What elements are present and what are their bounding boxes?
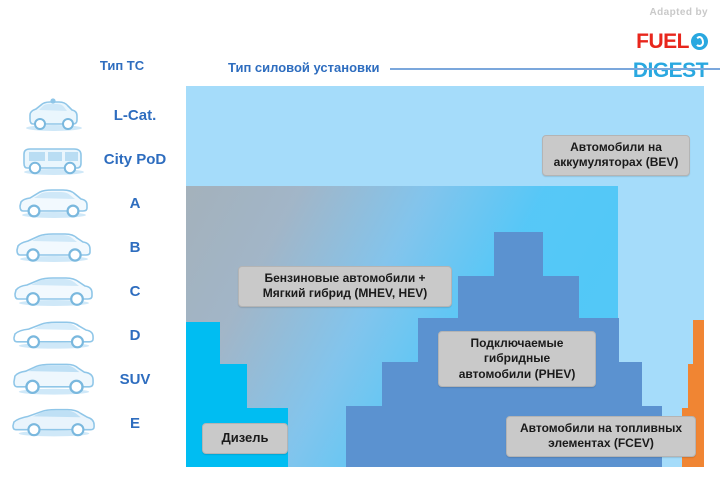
logo-fuel-text: FUEL: [636, 31, 689, 52]
vehicle-type-column: L-Cat. City PoD: [0, 93, 182, 445]
city-pod-icon: [12, 138, 96, 180]
powertrain-axis-label: Тип силовой установки: [228, 60, 380, 75]
hatchback-b-icon: [12, 226, 96, 268]
swirl-icon: [691, 33, 708, 50]
callout-mhev: Бензиновые автомобили + Мягкий гибрид (M…: [238, 266, 452, 307]
vehicle-row-lcat: L-Cat.: [0, 93, 182, 137]
vehicle-row-label: C: [96, 283, 182, 300]
logo-wordmark-row: FUEL: [633, 19, 708, 63]
suv-icon: [12, 358, 96, 400]
vehicle-row-label: L-Cat.: [96, 107, 182, 124]
vehicle-row-label: B: [96, 239, 182, 256]
vehicle-row-citypod: City PoD: [0, 137, 182, 181]
microcar-icon: [12, 94, 96, 136]
vehicle-row-label: A: [96, 195, 182, 212]
vehicle-row-label: D: [96, 327, 182, 344]
sedan-d-icon: [12, 314, 96, 356]
vehicle-row-d: D: [0, 313, 182, 357]
callout-bev: Автомобили на аккумуляторах (BEV): [542, 135, 690, 176]
vehicle-row-label: E: [96, 415, 182, 432]
vehicle-row-label: City PoD: [96, 151, 182, 168]
powertrain-coverage-chart: Автомобили на аккумуляторах (BEV) Бензин…: [186, 86, 704, 467]
vehicle-row-suv: SUV: [0, 357, 182, 401]
logo-adapted-by: Adapted by: [633, 8, 708, 18]
vehicle-row-b: B: [0, 225, 182, 269]
powertrain-axis: Тип силовой установки: [228, 60, 720, 75]
callout-diesel: Дизель: [202, 423, 288, 454]
sedan-e-icon: [12, 402, 96, 444]
hatchback-c-icon: [12, 270, 96, 312]
vehicle-row-a: A: [0, 181, 182, 225]
callout-fcev: Автомобили на топливных элементах (FCEV): [506, 416, 696, 457]
vehicle-row-c: C: [0, 269, 182, 313]
callout-phev: Подключаемые гибридные автомобили (PHEV): [438, 331, 596, 387]
vehicle-row-e: E: [0, 401, 182, 445]
hatchback-a-icon: [12, 182, 96, 224]
vehicle-row-label: SUV: [96, 371, 182, 388]
infographic-root: Adapted by FUEL DIGEST Тип ТС Тип силово…: [0, 0, 720, 480]
vehicle-type-header: Тип ТС: [62, 58, 182, 73]
right-arrow-icon: [390, 62, 720, 74]
